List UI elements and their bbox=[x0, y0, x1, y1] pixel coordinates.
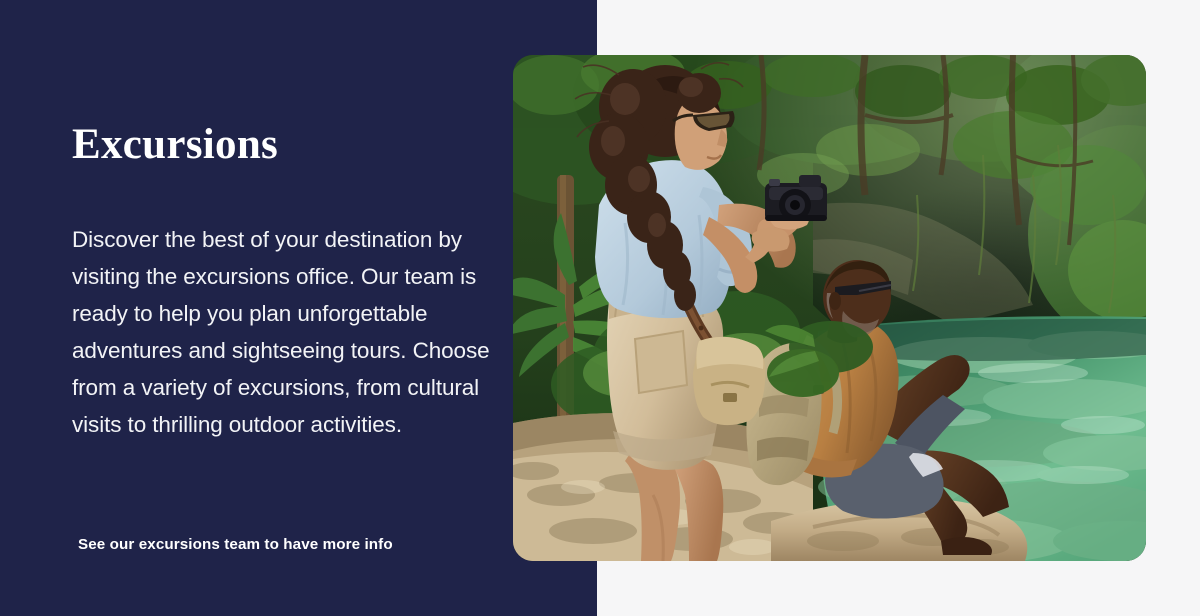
panel-content: Excursions Discover the best of your des… bbox=[72, 0, 502, 616]
panel-description: Discover the best of your destination by… bbox=[72, 221, 500, 443]
excursions-team-cta-link[interactable]: See our excursions team to have more inf… bbox=[78, 534, 393, 556]
excursion-photo-card bbox=[513, 55, 1146, 561]
excursions-section: Excursions Discover the best of your des… bbox=[0, 0, 1200, 616]
page-title: Excursions bbox=[72, 119, 278, 171]
excursion-photo bbox=[513, 55, 1146, 561]
navy-text-panel: Excursions Discover the best of your des… bbox=[0, 0, 597, 616]
